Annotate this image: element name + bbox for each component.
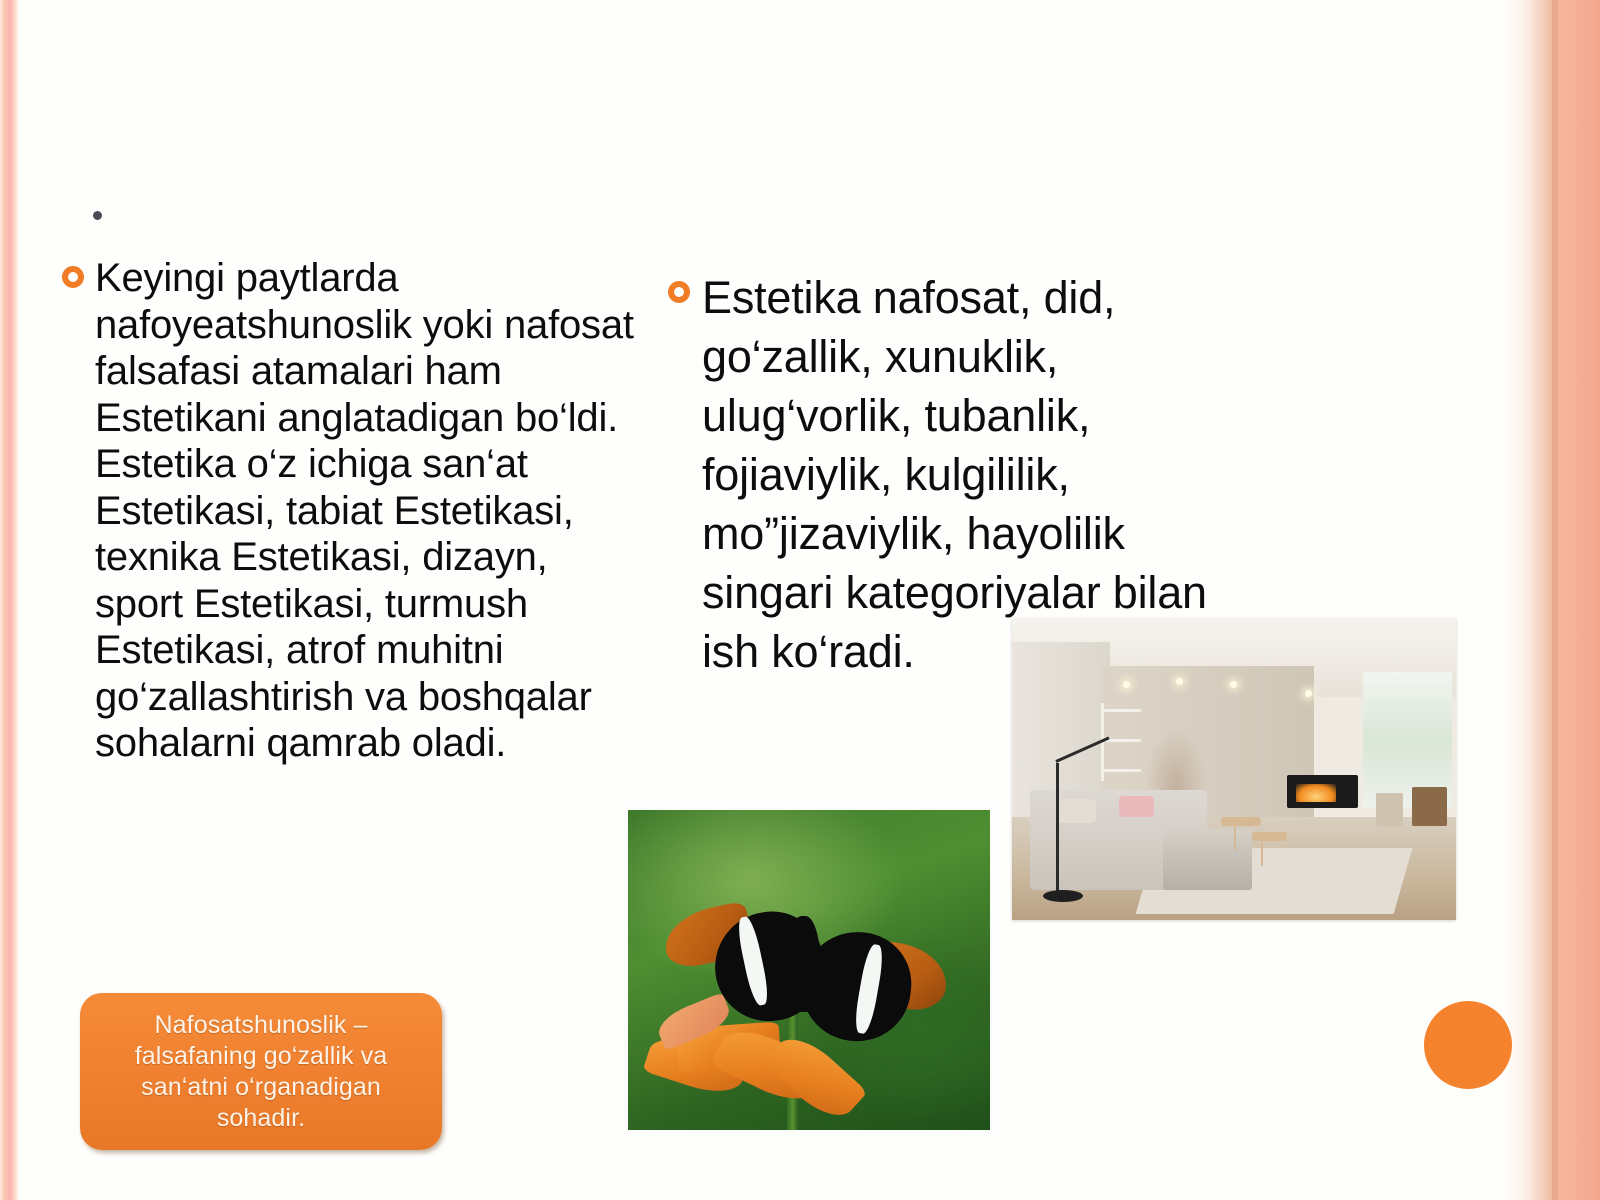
floor-lamp-base bbox=[1043, 890, 1083, 902]
coffee-table bbox=[1252, 832, 1288, 841]
ceiling-downlight-icon bbox=[1230, 681, 1237, 688]
ring-bullet-icon bbox=[668, 281, 690, 303]
butterfly-photo bbox=[628, 810, 990, 1130]
left-text-column: Keyingi paytlarda nafoyeatshunoslik yoki… bbox=[62, 255, 642, 767]
right-edge-light-stripe bbox=[1532, 0, 1552, 1200]
sofa-cushion bbox=[1119, 796, 1155, 817]
wall-shelf bbox=[1101, 709, 1141, 712]
dining-chair bbox=[1376, 793, 1403, 826]
orange-circle-decoration bbox=[1424, 1001, 1512, 1089]
fireplace-flame bbox=[1296, 784, 1336, 802]
ring-bullet-icon bbox=[62, 266, 84, 288]
right-edge-band bbox=[1558, 0, 1600, 1200]
small-dot-bullet-icon bbox=[93, 211, 102, 220]
wall-shelf bbox=[1101, 769, 1141, 772]
side-table bbox=[1221, 817, 1261, 826]
left-edge-stripe bbox=[0, 0, 20, 1200]
side-table-leg bbox=[1234, 826, 1236, 850]
dining-chair bbox=[1412, 787, 1448, 826]
left-column-paragraph: Keyingi paytlarda nafoyeatshunoslik yoki… bbox=[95, 255, 642, 767]
orange-callout-box: Nafosatshunoslik – falsafaning go‘zallik… bbox=[80, 993, 442, 1150]
right-edge-glow-stripe bbox=[1506, 0, 1532, 1200]
decorative-branch bbox=[1145, 727, 1207, 793]
callout-text: Nafosatshunoslik – falsafaning go‘zallik… bbox=[96, 1010, 426, 1134]
presentation-slide: Keyingi paytlarda nafoyeatshunoslik yoki… bbox=[0, 0, 1600, 1200]
floor-lamp-pole bbox=[1056, 763, 1059, 896]
coffee-table-leg bbox=[1261, 841, 1263, 865]
ottoman bbox=[1163, 829, 1252, 889]
butterfly-thorax bbox=[787, 916, 820, 1012]
interior-photo bbox=[1012, 618, 1456, 920]
sofa-cushion bbox=[1056, 799, 1096, 823]
